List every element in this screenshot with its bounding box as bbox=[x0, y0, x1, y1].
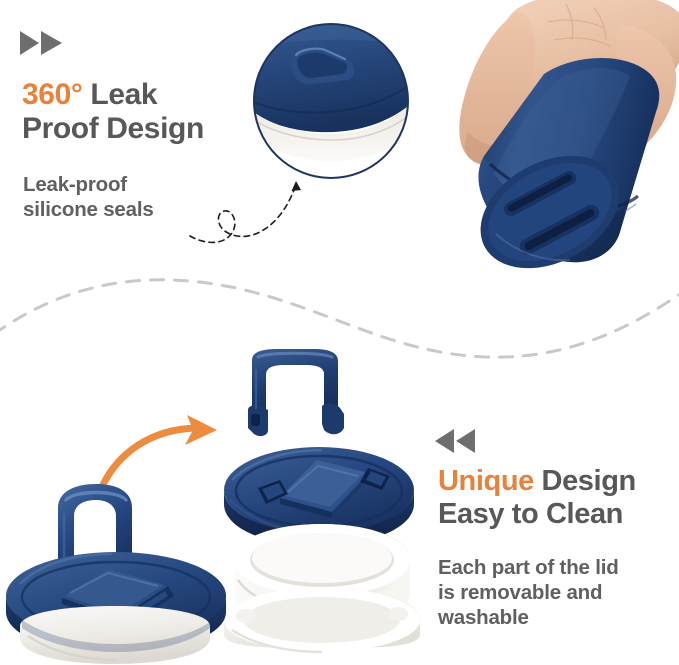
subtitle-line2: silicone seals bbox=[23, 198, 154, 221]
title-accent-unique: Unique bbox=[438, 465, 534, 497]
title-rest-leak: Leak bbox=[82, 78, 157, 111]
title-accent-360: 360° bbox=[22, 78, 82, 111]
subtitle-br-line2: is removable and bbox=[438, 581, 602, 604]
exploded-lid-diagram bbox=[218, 348, 430, 648]
hand-holding-inverted-jar-photo bbox=[398, 0, 679, 288]
title-line2-easytoclean: Easy to Clean bbox=[438, 498, 623, 530]
subtitle-br-line3: washable bbox=[438, 606, 529, 629]
subtitle-br-line1: Each part of the lid bbox=[438, 556, 619, 579]
subtitle-removable-washable: Each part of the lid is removable and wa… bbox=[438, 555, 679, 630]
infographic-canvas: 360° Leak Proof Design Leak-proof silico… bbox=[0, 0, 679, 665]
fast-forward-icon bbox=[20, 30, 70, 56]
lid-seal-closeup-circle bbox=[252, 22, 410, 180]
title-line2-proofdesign: Proof Design bbox=[22, 112, 204, 145]
page-title-leakproof: 360° Leak Proof Design bbox=[22, 78, 272, 146]
page-title-unique-design: Unique Design Easy to Clean bbox=[438, 465, 678, 531]
subtitle-line1: Leak-proof bbox=[23, 173, 127, 196]
rewind-icon bbox=[433, 428, 483, 454]
assembled-lid-photo bbox=[12, 478, 230, 665]
title-rest-design: Design bbox=[534, 465, 636, 497]
